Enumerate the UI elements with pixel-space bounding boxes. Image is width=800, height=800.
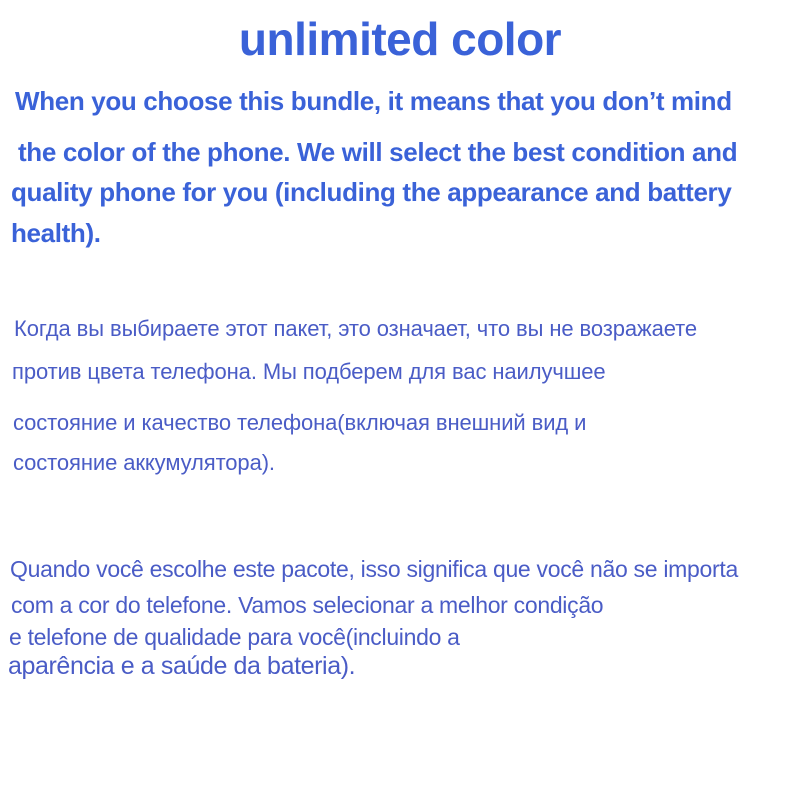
english-line-1: When you choose this bundle, it means th… [15,86,732,117]
portuguese-line-2: com a cor do telefone. Vamos selecionar … [11,592,603,619]
russian-line-2: против цвета телефона. Мы подберем для в… [12,359,606,385]
portuguese-line-1: Quando você escolhe este pacote, isso si… [10,556,738,583]
russian-line-4: состояние аккумулятора). [13,450,275,476]
portuguese-line-3: e telefone de qualidade para você(inclui… [9,624,460,651]
page-title: unlimited color [0,11,800,67]
russian-line-1: Когда вы выбираете этот пакет, это означ… [14,316,697,342]
portuguese-line-4: aparência e a saúde da bateria). [8,652,355,681]
russian-line-3: состояние и качество телефона(включая вн… [13,410,586,436]
english-line-3: quality phone for you (including the app… [11,177,731,208]
document-page: unlimited color When you choose this bun… [0,0,800,800]
english-line-4: health). [11,218,101,249]
english-line-2: the color of the phone. We will select t… [18,137,737,168]
